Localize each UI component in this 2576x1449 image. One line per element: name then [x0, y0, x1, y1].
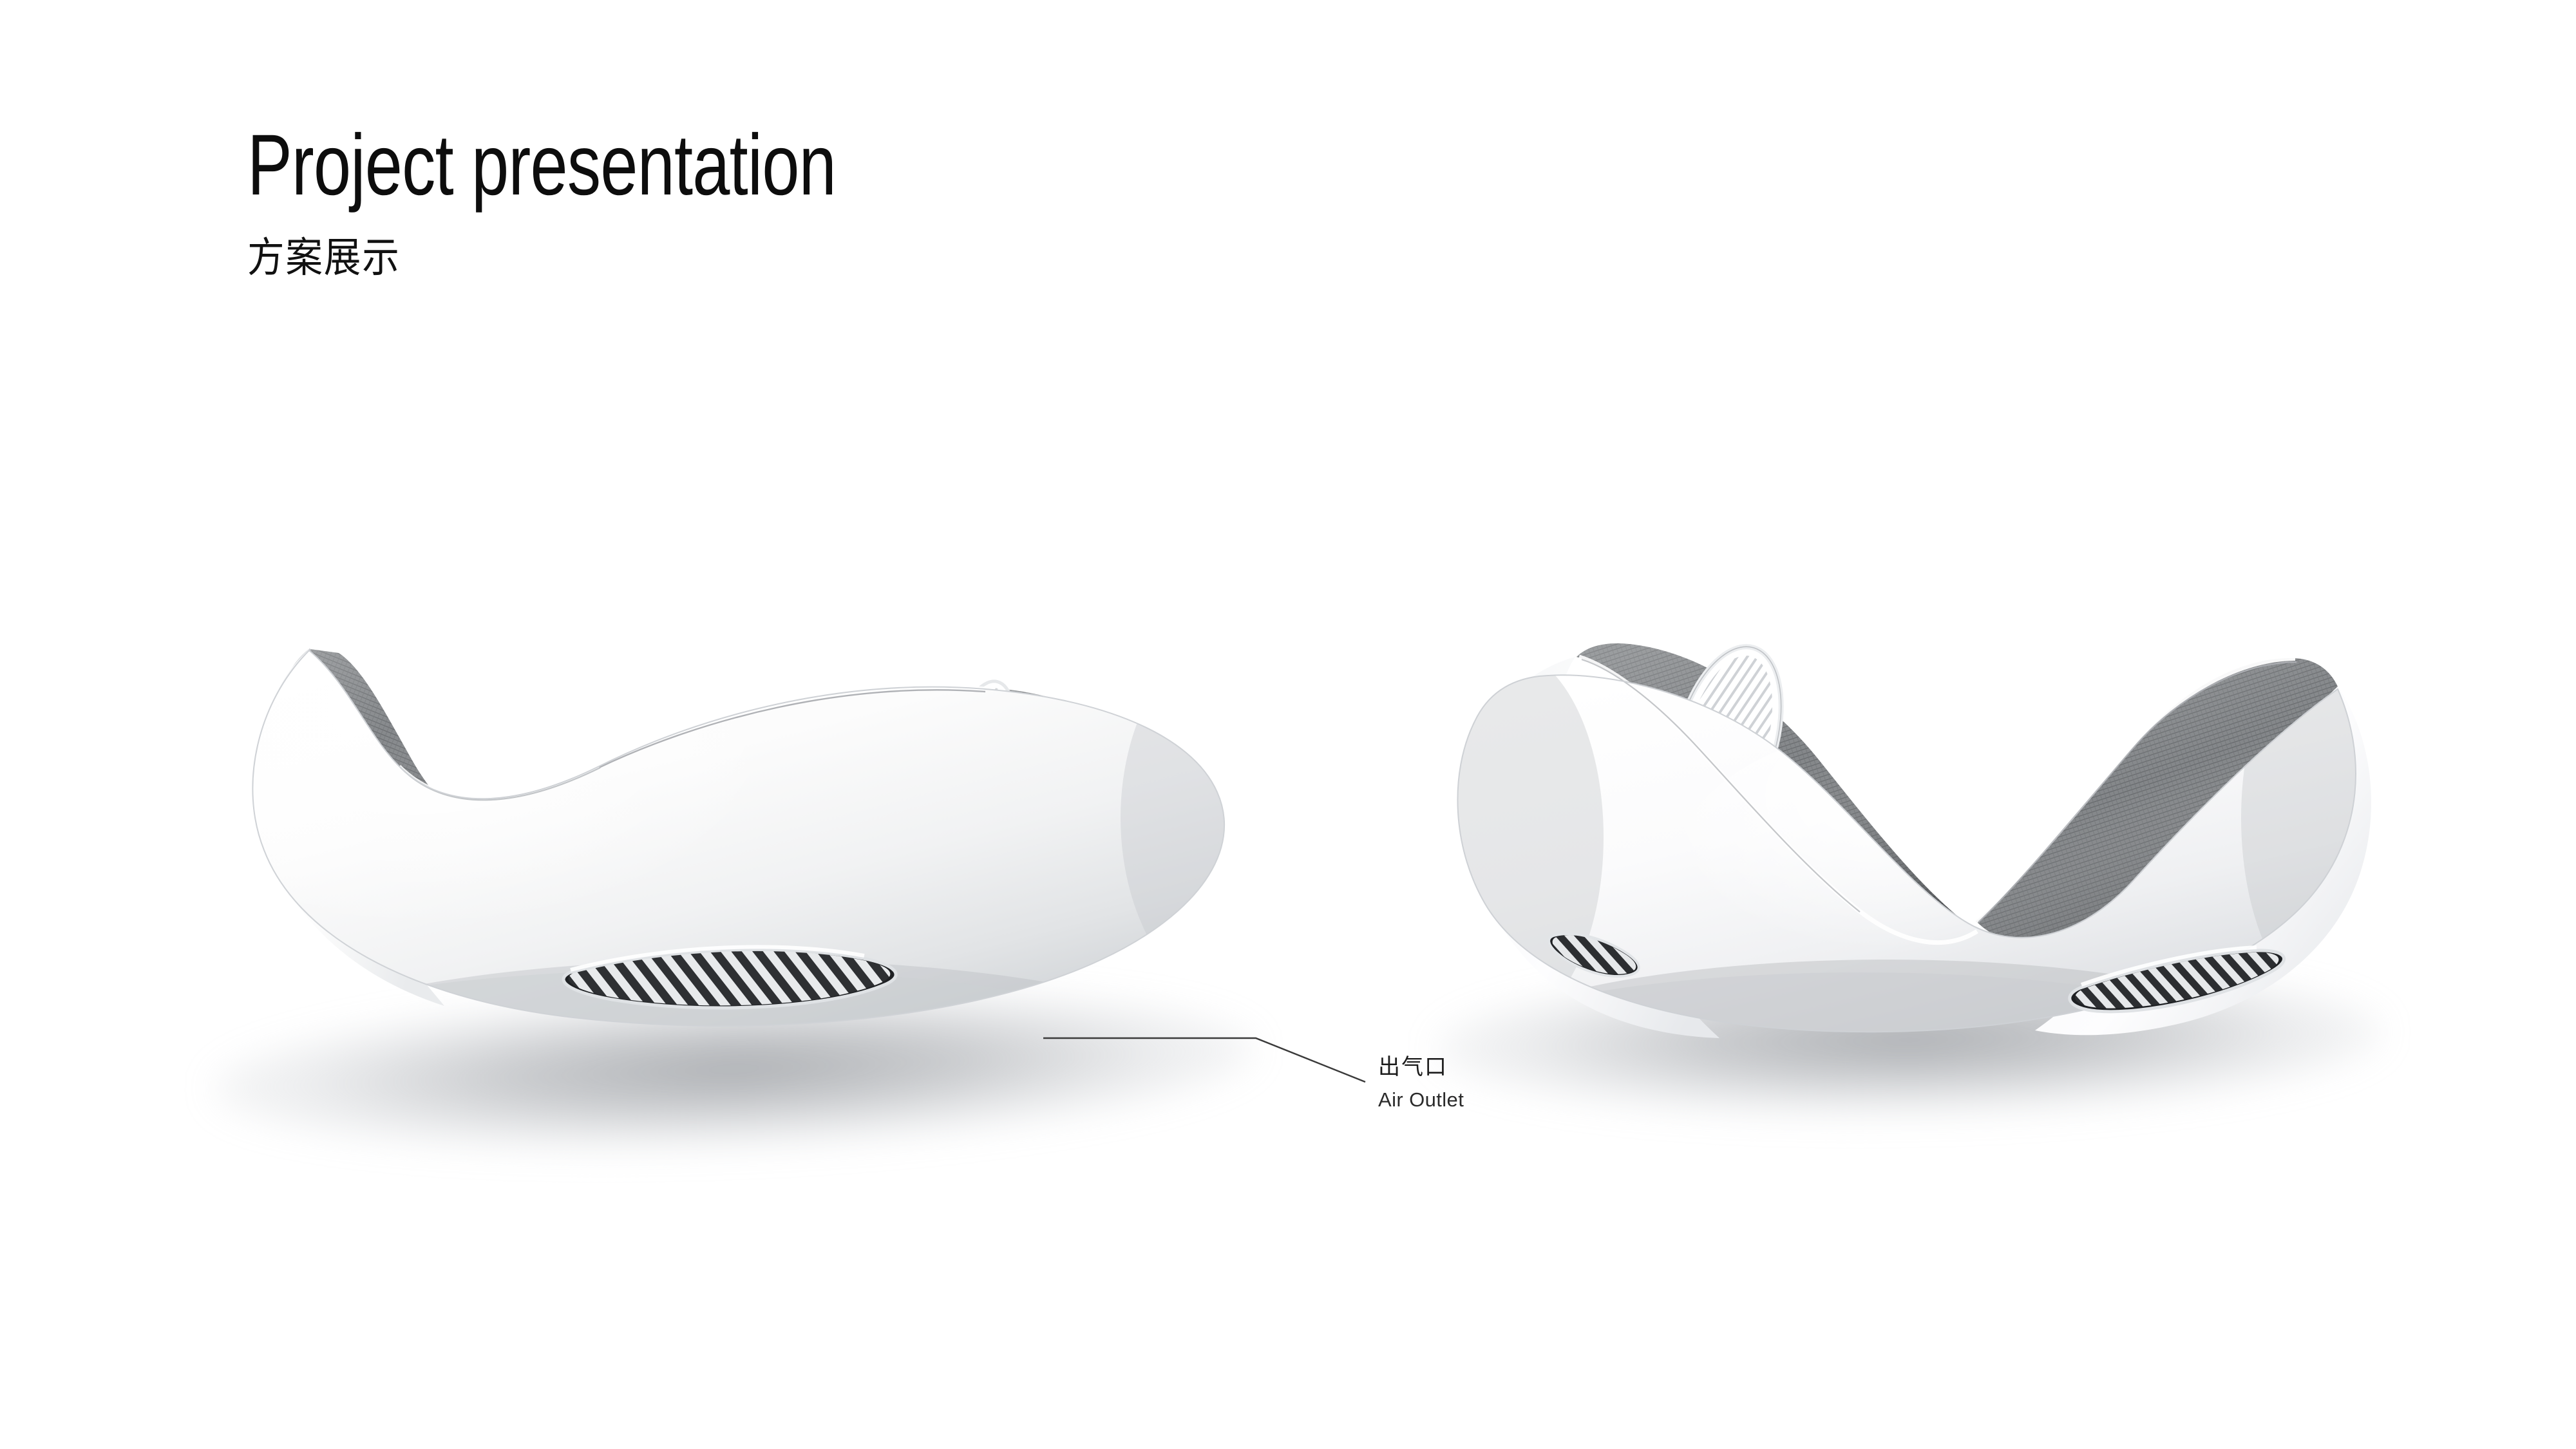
callout-label-english: Air Outlet — [1378, 1086, 1464, 1113]
product-render-right — [1436, 560, 2402, 1050]
callout-label-group: 出气口 Air Outlet — [1378, 1053, 1464, 1113]
callout-label-chinese: 出气口 — [1378, 1053, 1464, 1083]
callout-leader-line — [1043, 979, 1404, 1082]
title-block: Project presentation 方案展示 — [247, 122, 1002, 278]
presentation-slide: Project presentation 方案展示 — [0, 0, 2576, 1449]
page-title: Project presentation — [247, 122, 836, 209]
page-subtitle: 方案展示 — [247, 237, 927, 278]
air-outlet-callout: 出气口 Air Outlet — [1043, 979, 1623, 1159]
